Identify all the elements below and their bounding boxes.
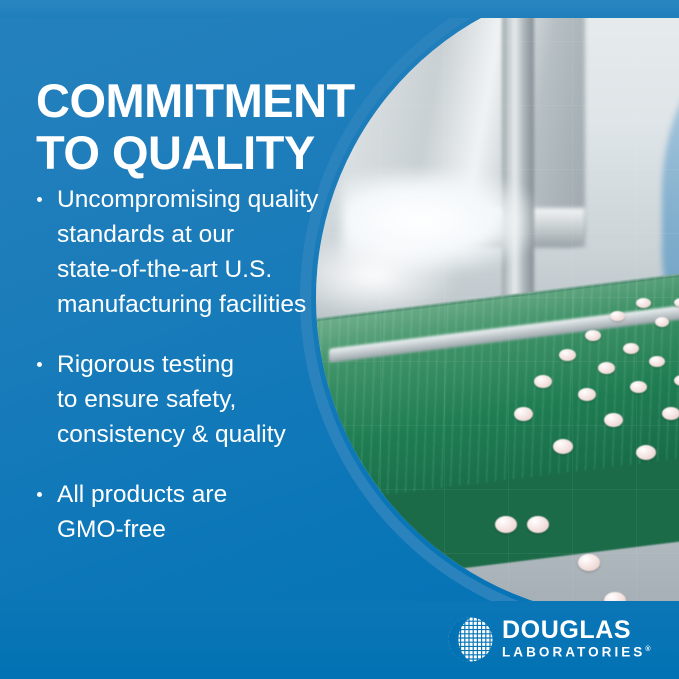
bullet-line: state-of-the-art U.S.	[57, 252, 356, 287]
production-line-photo	[316, 0, 679, 618]
logo-sub-text: LABORATORIES	[502, 645, 645, 660]
headline-line-1: COMMITMENT	[36, 74, 355, 127]
bullet-line: consistency & quality	[57, 417, 356, 452]
bullet-dot-icon	[37, 492, 42, 497]
list-item: Rigorous testing to ensure safety, consi…	[36, 347, 356, 452]
text-column: COMMITMENT TO QUALITY Uncompromising qua…	[0, 0, 352, 679]
headline-line-2: TO QUALITY	[36, 127, 366, 179]
bullet-dot-icon	[37, 197, 42, 202]
page-title: COMMITMENT TO QUALITY	[36, 75, 366, 179]
registered-mark-icon: ®	[645, 646, 650, 653]
list-item: Uncompromising quality standards at our …	[36, 182, 356, 322]
douglas-laboratories-logo: DOUGLAS LABORATORIES®	[448, 617, 651, 662]
bullet-line: GMO-free	[57, 512, 356, 547]
logo-brand-sub: LABORATORIES®	[502, 642, 651, 661]
bullet-line: All products are	[57, 477, 356, 512]
list-item: All products are GMO-free	[36, 477, 356, 547]
logo-wordmark: DOUGLAS LABORATORIES®	[502, 618, 651, 661]
photo-canvas	[316, 0, 679, 618]
bullet-dot-icon	[37, 362, 42, 367]
logo-brand-name: DOUGLAS	[502, 618, 651, 642]
machine-post	[502, 0, 534, 330]
quality-bullet-list: Uncompromising quality standards at our …	[36, 182, 356, 572]
bullet-line: Rigorous testing	[57, 347, 356, 382]
bullet-line: Uncompromising quality	[57, 182, 356, 217]
bullet-line: standards at our	[57, 217, 356, 252]
douglas-grid-circle-icon	[448, 617, 493, 662]
bullet-line: to ensure safety,	[57, 382, 356, 417]
commitment-to-quality-poster: COMMITMENT TO QUALITY Uncompromising qua…	[0, 0, 679, 679]
bullet-line: manufacturing facilities	[57, 287, 356, 322]
